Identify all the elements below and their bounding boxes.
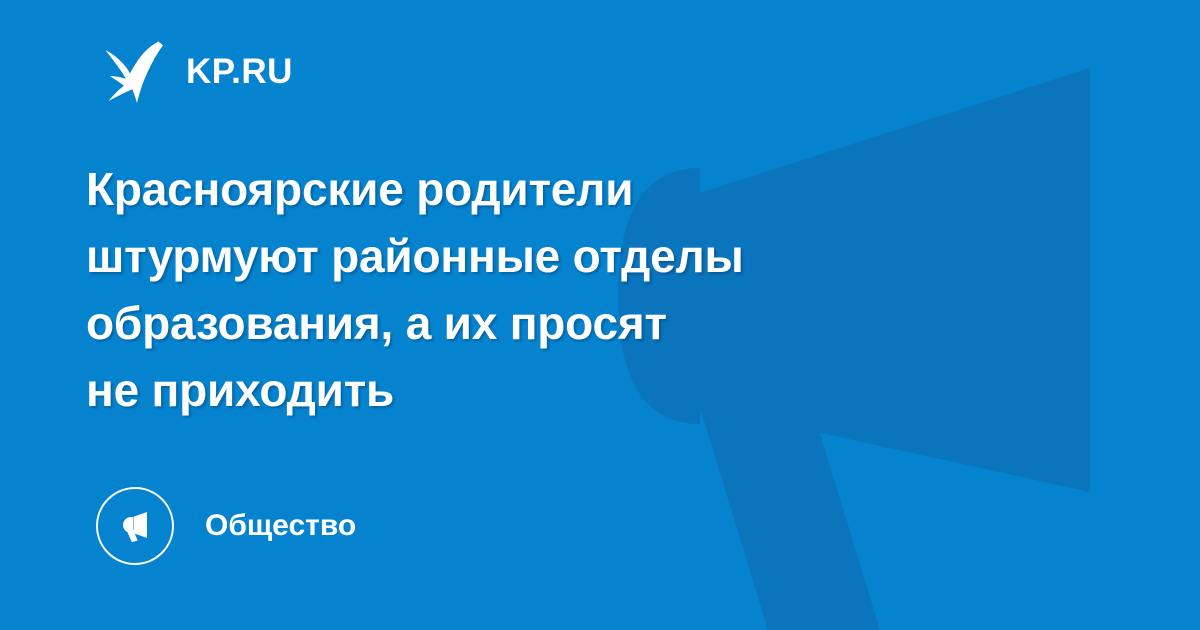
headline-line-1: Красноярские родители (86, 156, 986, 223)
headline-line-3: образования, а их просят (86, 290, 986, 357)
megaphone-icon (113, 504, 157, 548)
category-label: Общество (205, 511, 356, 541)
page-title: Красноярские родители штурмуют районные … (86, 156, 986, 424)
swallow-bird-icon (100, 35, 172, 107)
headline-line-2: штурмуют районные отделы (86, 223, 986, 290)
brand-name: KP.RU (186, 54, 293, 89)
category-icon-circle (96, 487, 174, 565)
category-badge-group[interactable]: Общество (96, 486, 356, 566)
headline-line-4: не приходить (86, 357, 986, 424)
article-share-card: KP.RU Красноярские родители штурмуют рай… (0, 0, 1200, 630)
brand-logo[interactable]: KP.RU (100, 34, 293, 108)
